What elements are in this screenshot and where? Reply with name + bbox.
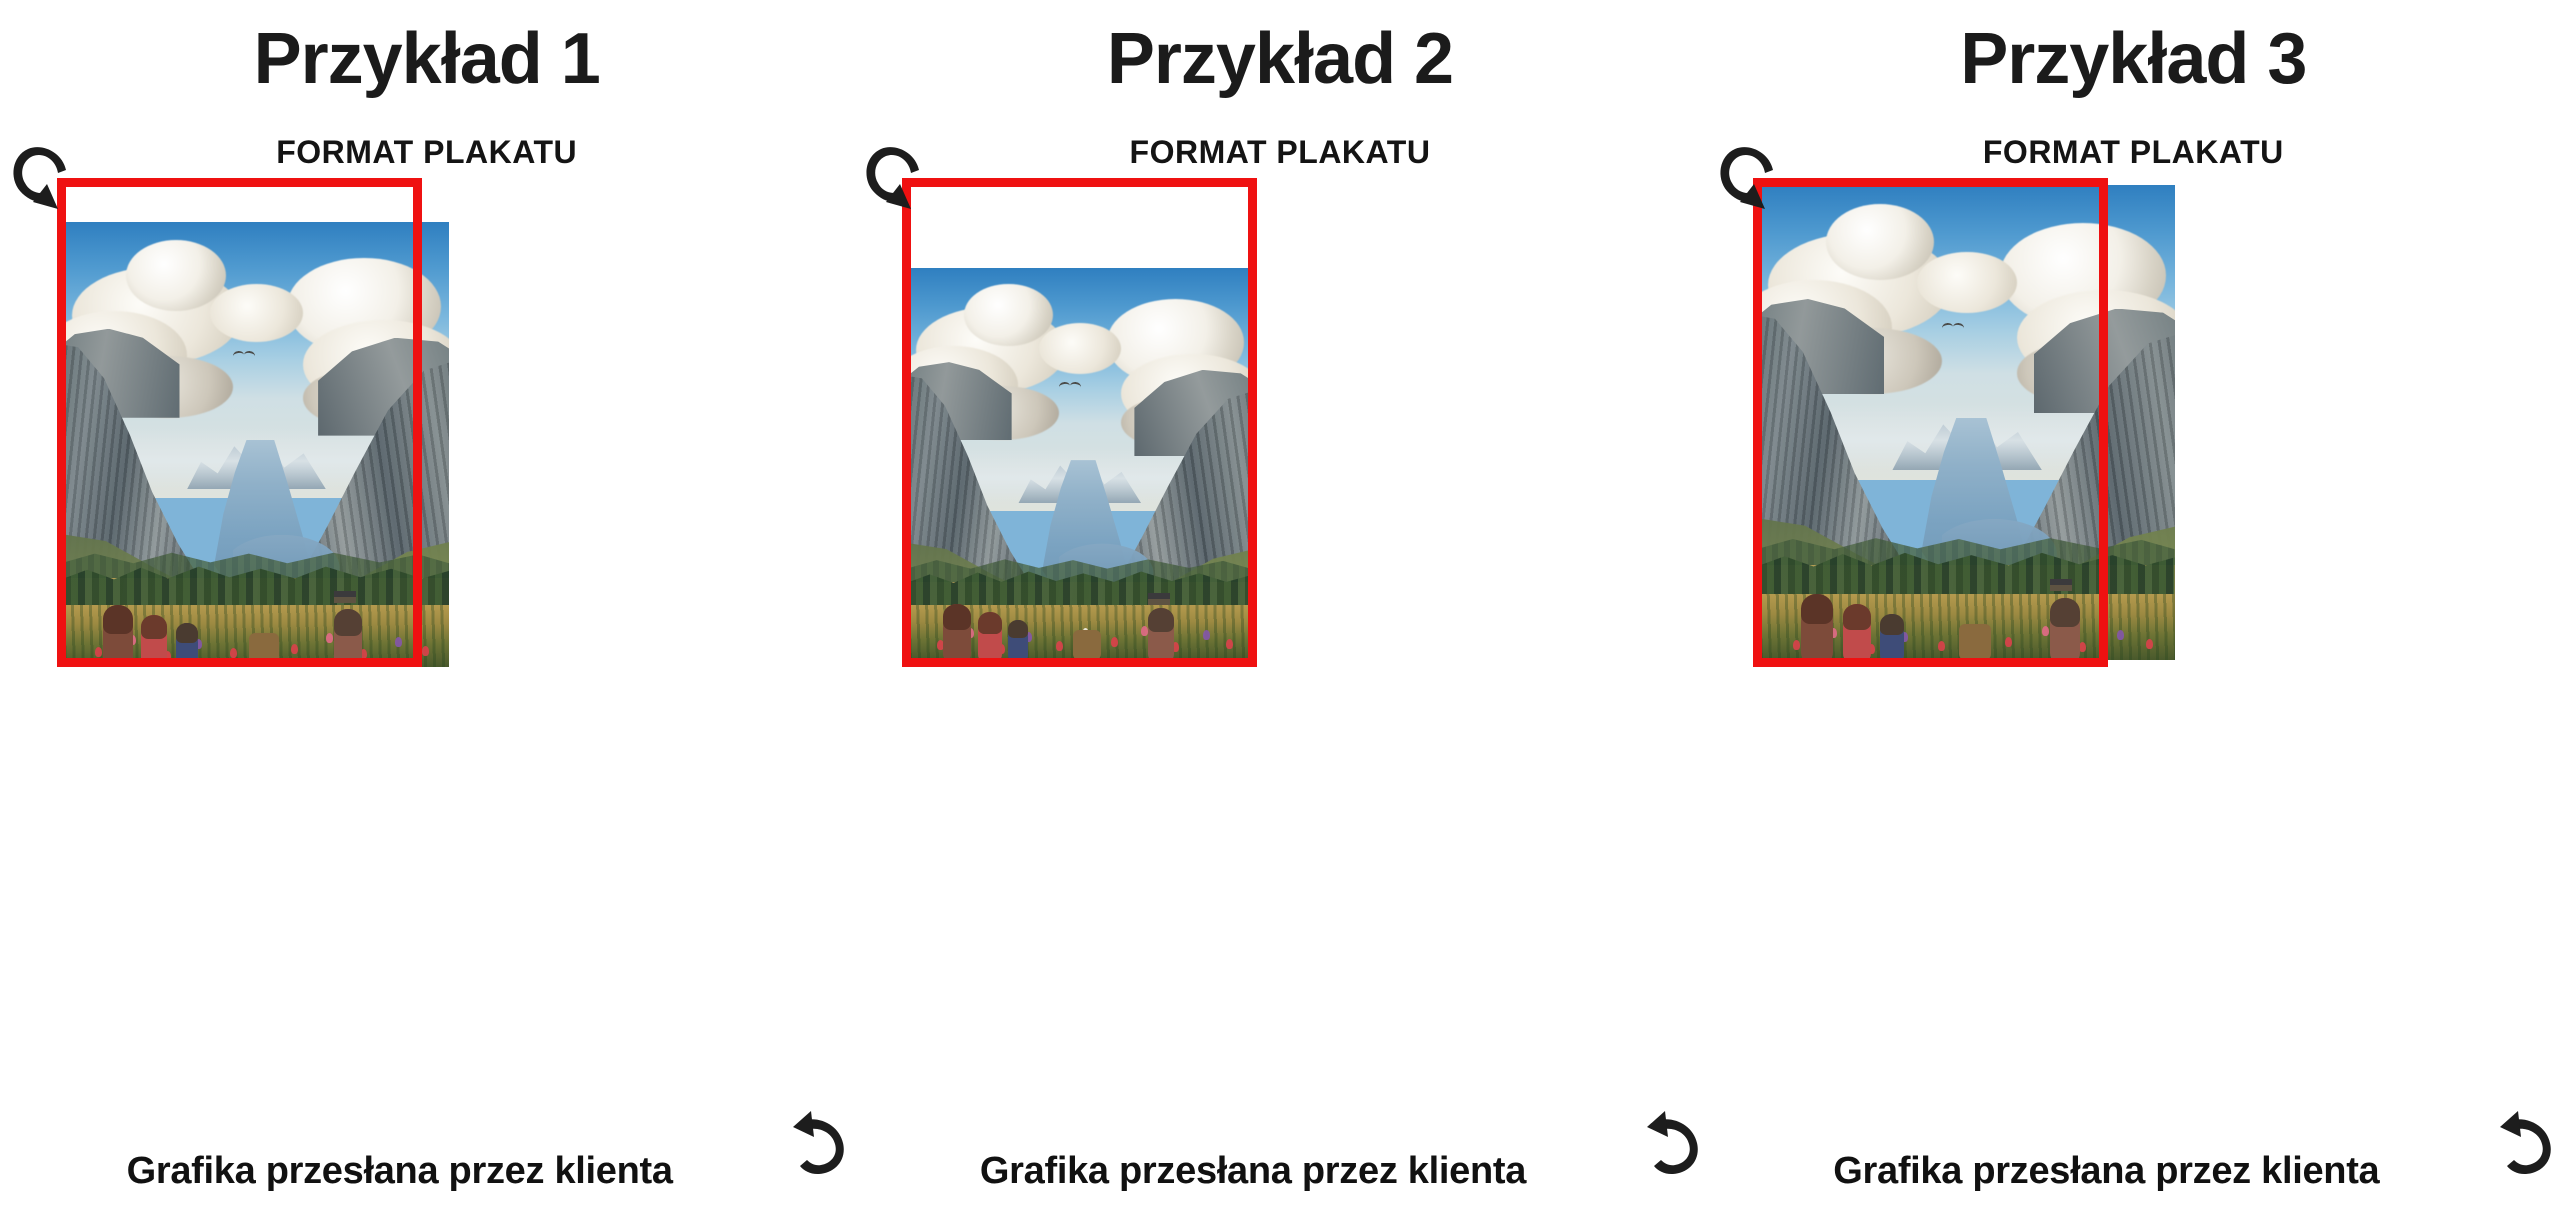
panel-title: Przykład 1 bbox=[0, 22, 853, 98]
example-panel-2: Przykład 2 FORMAT PLAKATU bbox=[853, 0, 1706, 1217]
example-panel-1: Przykład 1 FORMAT PLAKATU bbox=[0, 0, 853, 1217]
flower bbox=[2146, 639, 2153, 649]
client-graphic-caption: Grafika przesłana przez klienta bbox=[0, 1150, 853, 1193]
panel-title: Przykład 2 bbox=[853, 22, 1706, 98]
client-graphic-caption: Grafika przesłana przez klienta bbox=[1707, 1150, 2560, 1193]
format-label: FORMAT PLAKATU bbox=[853, 134, 1706, 171]
curved-arrow-down-right-icon bbox=[6, 140, 70, 212]
poster-format-frame[interactable] bbox=[1753, 178, 2108, 667]
poster-format-frame[interactable] bbox=[57, 178, 422, 667]
curved-arrow-up-left-icon bbox=[2494, 1107, 2556, 1177]
flower bbox=[422, 646, 429, 656]
comparison-board: Przykład 1 FORMAT PLAKATU bbox=[0, 0, 2560, 1217]
format-label: FORMAT PLAKATU bbox=[0, 134, 853, 171]
client-graphic-caption: Grafika przesłana przez klienta bbox=[853, 1150, 1706, 1193]
format-label: FORMAT PLAKATU bbox=[1707, 134, 2560, 171]
flower bbox=[2117, 630, 2124, 640]
curved-arrow-up-left-icon bbox=[787, 1107, 849, 1177]
curved-arrow-down-right-icon bbox=[859, 140, 923, 212]
panel-title: Przykład 3 bbox=[1707, 22, 2560, 98]
curved-arrow-up-left-icon bbox=[1641, 1107, 1703, 1177]
poster-format-frame[interactable] bbox=[902, 178, 1257, 667]
curved-arrow-down-right-icon bbox=[1713, 140, 1777, 212]
example-panel-3: Przykład 3 FORMAT PLAKATU bbox=[1707, 0, 2560, 1217]
